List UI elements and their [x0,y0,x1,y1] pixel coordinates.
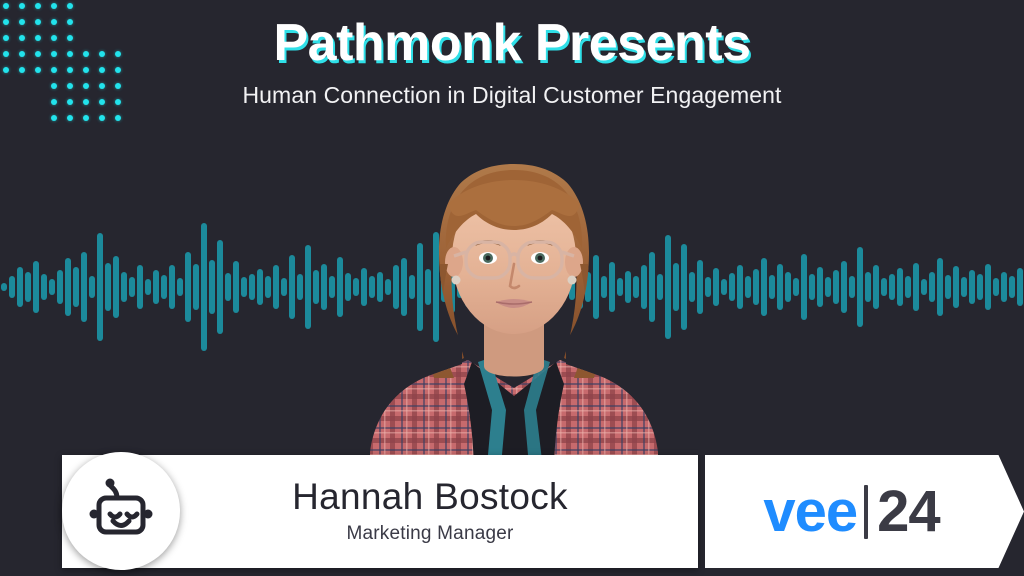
waveform-bar [953,266,959,308]
grid-dot [19,3,25,9]
waveform-bar [161,275,167,299]
grid-dot [51,115,57,121]
waveform-bar [713,268,719,306]
waveform-bar [81,252,87,322]
waveform-bar [129,277,135,297]
waveform-bar [729,273,735,301]
waveform-bar [873,265,879,309]
waveform-bar [65,258,71,316]
waveform-bar [57,270,63,304]
waveform-bar [105,263,111,311]
waveform-bar [689,272,695,302]
waveform-bar [985,264,991,310]
waveform-bar [697,260,703,314]
waveform-bar [201,223,207,351]
waveform-bar [25,272,31,302]
waveform-bar [1017,268,1023,306]
waveform-bar [833,270,839,304]
waveform-bar [665,235,671,339]
show-title: Pathmonk Presents [0,14,1024,72]
waveform-bar [49,279,55,295]
waveform-bar [313,270,319,304]
waveform-bar [961,277,967,297]
waveform-bar [745,276,751,298]
waveform-bar [41,274,47,300]
waveform-bar [97,233,103,341]
waveform-bar [841,261,847,313]
grid-dot [99,115,105,121]
waveform-bar [1001,272,1007,302]
waveform-bar [809,274,815,300]
robot-monk-icon [84,474,158,548]
sponsor-logo-plate: vee 24 [705,455,1024,568]
waveform-bar [921,279,927,295]
grid-dot [115,115,121,121]
waveform-bar [321,264,327,310]
waveform-bar [913,263,919,311]
grid-dot [51,3,57,9]
waveform-bar [889,274,895,300]
waveform-bar [897,268,903,306]
waveform-bar [857,247,863,327]
waveform-bar [337,257,343,317]
speaker-photo [368,152,660,477]
waveform-bar [273,265,279,309]
grid-dot [67,115,73,121]
brand-divider [864,485,868,539]
waveform-bar [289,255,295,319]
waveform-bar [217,240,223,334]
waveform-bar [945,275,951,299]
waveform-bar [817,267,823,307]
waveform-bar [977,274,983,300]
waveform-bar [153,270,159,304]
waveform-bar [361,268,367,306]
waveform-bar [305,245,311,329]
waveform-bar [753,269,759,305]
waveform-bar [785,272,791,302]
episode-subtitle: Human Connection in Digital Customer Eng… [0,82,1024,110]
waveform-bar [969,270,975,304]
waveform-bar [33,261,39,313]
waveform-bar [929,272,935,302]
grid-dot [67,3,73,9]
waveform-bar [681,244,687,330]
waveform-bar [249,274,255,300]
waveform-bar [937,258,943,316]
waveform-bar [241,277,247,297]
waveform-bar [185,252,191,322]
podcast-thumbnail-canvas: Pathmonk Presents Human Connection in Di… [0,0,1024,576]
header-block: Pathmonk Presents Human Connection in Di… [0,14,1024,110]
waveform-bar [137,265,143,309]
waveform-bar [673,263,679,311]
waveform-bar [737,265,743,309]
waveform-bar [233,261,239,313]
waveform-bar [825,277,831,297]
waveform-bar [17,267,23,307]
waveform-bar [145,279,151,295]
waveform-bar [793,278,799,296]
waveform-bar [257,269,263,305]
waveform-bar [193,264,199,310]
waveform-bar [9,276,15,298]
brand-mark-24: 24 [877,483,940,541]
waveform-bar [169,265,175,309]
waveform-bar [265,276,271,298]
waveform-bar [73,267,79,307]
waveform-bar [177,278,183,296]
waveform-bar [297,274,303,300]
waveform-bar [225,273,231,301]
waveform-bar [1009,276,1015,298]
waveform-bar [329,276,335,298]
waveform-bar [801,254,807,320]
grid-dot [83,115,89,121]
waveform-bar [721,279,727,295]
brand-mark-vee: vee [763,483,857,541]
waveform-bar [113,256,119,318]
waveform-bar [761,258,767,316]
waveform-bar [89,276,95,298]
waveform-bar [777,264,783,310]
grid-dot [35,3,41,9]
waveform-bar [849,276,855,298]
waveform-bar [209,260,215,314]
waveform-bar [865,272,871,302]
waveform-bar [993,278,999,296]
waveform-bar [705,277,711,297]
brand-lockup: vee 24 [763,483,939,541]
avatar [62,452,180,570]
waveform-bar [769,275,775,299]
waveform-bar [353,278,359,296]
waveform-bar [905,276,911,298]
grid-dot [3,3,9,9]
speaker-role: Marketing Manager [246,523,513,546]
waveform-bar [345,273,351,301]
waveform-bar [1,283,7,291]
waveform-bar [281,278,287,296]
waveform-bar [121,272,127,302]
waveform-bar [881,278,887,296]
speaker-name: Hannah Bostock [192,477,568,518]
